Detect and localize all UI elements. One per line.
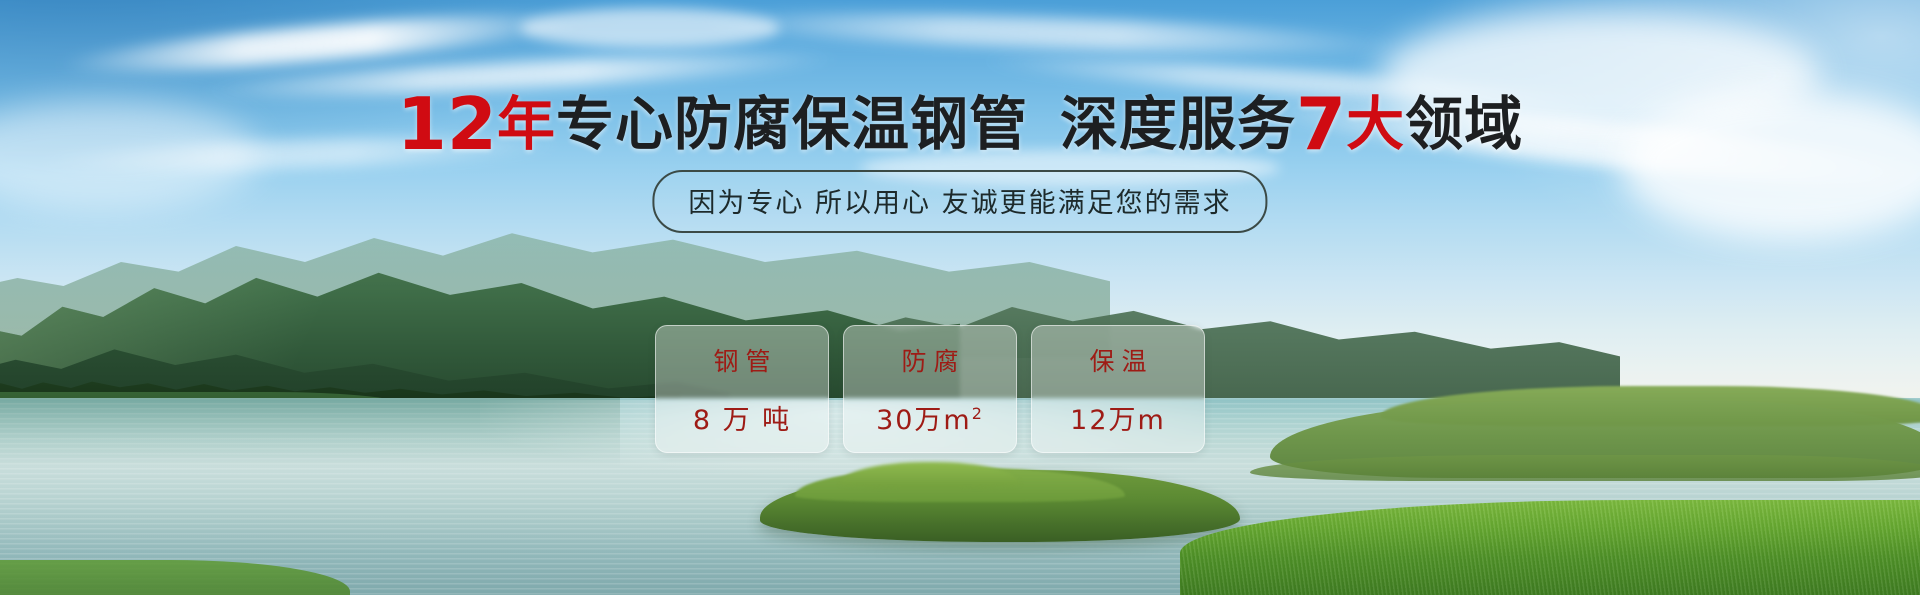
stat-card-value-text: 12万m <box>1070 405 1166 436</box>
headline-main-text: 专心防腐保温钢管 <box>556 90 1028 158</box>
headline-tail-text: 领域 <box>1405 90 1523 158</box>
headline-fields-number: 7 <box>1296 82 1346 166</box>
stat-card-title: 防腐 <box>894 342 965 378</box>
stat-card-value: 30万m2 <box>876 398 984 437</box>
stat-card-value: 12万m <box>1070 398 1166 437</box>
stat-card-value: 8 万 吨 <box>693 398 791 437</box>
page-title: 12年专心防腐保温钢管深度服务7大领域 <box>0 88 1920 160</box>
stat-card-anticorrosion: 防腐 30万m2 <box>843 325 1017 453</box>
headline-fields-unit: 大 <box>1346 90 1405 158</box>
banner-content: 12年专心防腐保温钢管深度服务7大领域 因为专心 所以用心 友诚更能满足您的需求… <box>0 0 1920 595</box>
headline-second-text: 深度服务 <box>1060 90 1296 158</box>
stat-card-steel-pipe: 钢管 8 万 吨 <box>655 325 829 453</box>
stat-card-value-text: 30万m <box>876 405 972 436</box>
stat-card-value-text: 8 万 吨 <box>693 405 791 436</box>
headline-years-unit: 年 <box>497 90 556 158</box>
headline-years-number: 12 <box>397 82 497 166</box>
stat-card-title: 保温 <box>1082 342 1153 378</box>
hero-banner: 12年专心防腐保温钢管深度服务7大领域 因为专心 所以用心 友诚更能满足您的需求… <box>0 0 1920 595</box>
stat-card-insulation: 保温 12万m <box>1031 325 1205 453</box>
stat-card-value-superscript: 2 <box>972 404 984 423</box>
stat-card-title: 钢管 <box>706 342 777 378</box>
stats-card-group: 钢管 8 万 吨 防腐 30万m2 保温 12万m <box>655 325 1205 453</box>
subtitle-pill: 因为专心 所以用心 友诚更能满足您的需求 <box>652 170 1267 233</box>
